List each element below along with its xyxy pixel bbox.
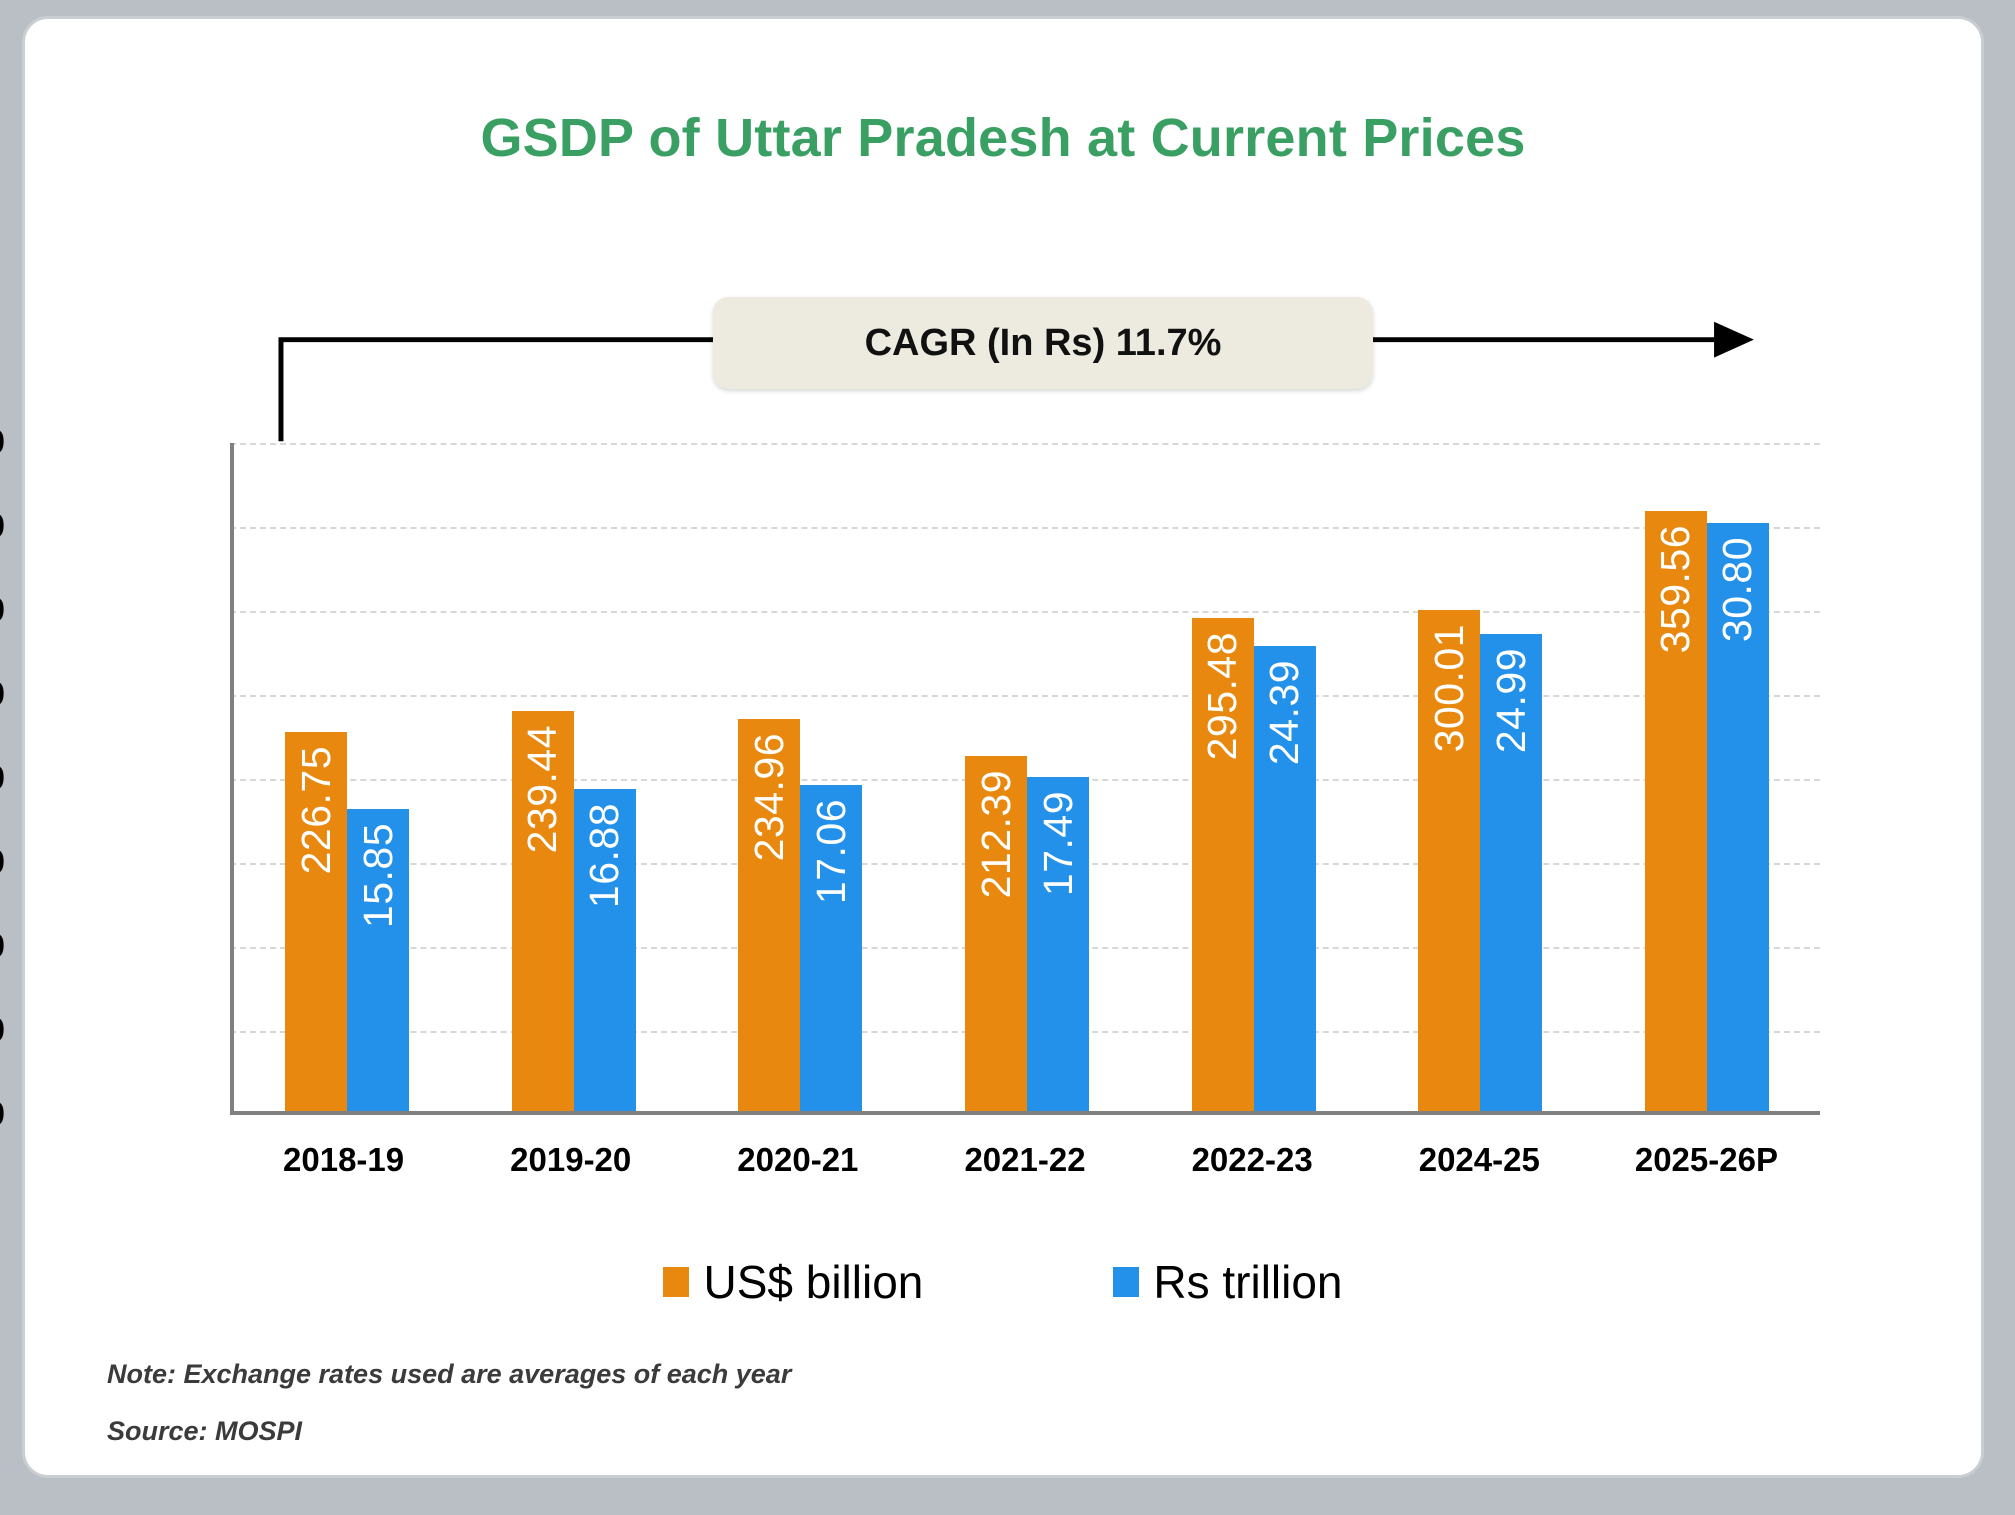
left-axis-tick: 50.0 [0,1011,5,1049]
legend-swatch-icon [663,1267,689,1297]
x-axis-tick-cell: 2024-25 [1366,1119,1593,1189]
bar-value-label: 30.80 [1717,537,1758,642]
bar-rs-trillion[interactable]: 17.49 [1027,777,1089,1111]
bar-usd-billion[interactable]: 239.44 [512,711,574,1111]
bar-pair: 295.4824.39 [1140,443,1367,1111]
bar-value-label: 17.06 [811,799,852,904]
legend-label-rs: Rs trillion [1153,1255,1342,1309]
x-axis-line [230,1111,1820,1115]
bar-usd-billion[interactable]: 300.01 [1418,610,1480,1111]
left-axis-tick: 200.0 [0,759,5,797]
left-axis-tick: 350.0 [0,507,5,545]
bar-pair: 212.3917.49 [914,443,1141,1111]
x-axis-tick-label: 2020-21 [684,1141,911,1179]
bar-value-label: 234.96 [749,733,790,861]
x-axis-tick-cell: 2022-23 [1139,1119,1366,1189]
left-axis-tick: 300.0 [0,591,5,629]
legend-item-usd[interactable]: US$ billion [663,1255,923,1309]
bar-value-label: 300.01 [1429,624,1470,752]
bar-rs-trillion[interactable]: 30.80 [1707,523,1769,1111]
bar-rs-trillion[interactable]: 15.85 [347,809,409,1112]
bar-usd-billion[interactable]: 226.75 [285,732,347,1111]
bar-value-label: 359.56 [1655,525,1696,653]
bar-value-label: 24.99 [1491,648,1532,753]
x-axis-tick-label: 2019-20 [457,1141,684,1179]
bar-rs-trillion[interactable]: 17.06 [800,785,862,1111]
chart-footer: Note: Exchange rates used are averages o… [107,1359,791,1473]
left-axis-tick: 150.0 [0,843,5,881]
chart-page: GSDP of Uttar Pradesh at Current Prices … [0,0,2015,1515]
bar-value-label: 295.48 [1202,632,1243,760]
x-axis-tick-label: 2018-19 [230,1141,457,1179]
chart-card: GSDP of Uttar Pradesh at Current Prices … [22,16,1984,1478]
legend-label-usd: US$ billion [703,1255,923,1309]
x-axis-tick-label: 2025-26P [1593,1141,1820,1179]
bar-groups: 226.7515.85239.4416.88234.9617.06212.391… [234,443,1820,1111]
x-axis-tick-cell: 2019-20 [457,1119,684,1189]
left-axis-tick: 400.0 [0,423,5,461]
x-axis-tick-label: 2022-23 [1139,1141,1366,1179]
bar-group: 226.7515.85 [234,443,461,1111]
legend-swatch-icon [1113,1267,1139,1297]
bar-usd-billion[interactable]: 359.56 [1645,511,1707,1111]
x-axis-tick-cell: 2020-21 [684,1119,911,1189]
plot-area: 400.0 350.0 300.0 250.0 200.0 150.0 100.… [230,443,1820,1115]
x-axis-labels: 2018-192019-202020-212021-222022-232024-… [230,1119,1820,1189]
left-axis-tick: 100.0 [0,927,5,965]
bar-value-label: 17.49 [1038,791,1079,896]
bar-value-label: 24.39 [1264,660,1305,765]
left-axis-tick: 250.0 [0,675,5,713]
bar-rs-trillion[interactable]: 24.99 [1480,634,1542,1111]
bar-group: 300.0124.99 [1367,443,1594,1111]
bar-value-label: 212.39 [976,770,1017,898]
chart-title: GSDP of Uttar Pradesh at Current Prices [25,107,1981,169]
chart-legend: US$ billion Rs trillion [25,1255,1981,1309]
x-axis-tick-cell: 2021-22 [911,1119,1138,1189]
bar-group: 234.9617.06 [687,443,914,1111]
x-axis-tick-label: 2021-22 [911,1141,1138,1179]
footer-note: Note: Exchange rates used are averages o… [107,1359,791,1390]
bar-pair: 226.7515.85 [234,443,461,1111]
bar-value-label: 15.85 [358,823,399,928]
bar-pair: 359.5630.80 [1593,443,1820,1111]
bar-usd-billion[interactable]: 212.39 [965,756,1027,1111]
bar-rs-trillion[interactable]: 16.88 [574,789,636,1111]
bar-usd-billion[interactable]: 234.96 [738,719,800,1111]
bar-group: 212.3917.49 [914,443,1141,1111]
cagr-label: CAGR (In Rs) 11.7% [865,322,1222,365]
x-axis-tick-cell: 2018-19 [230,1119,457,1189]
bar-rs-trillion[interactable]: 24.39 [1254,646,1316,1112]
cagr-badge: CAGR (In Rs) 11.7% [713,297,1373,389]
bar-group: 295.4824.39 [1140,443,1367,1111]
bar-group: 359.5630.80 [1593,443,1820,1111]
bar-value-label: 226.75 [296,746,337,874]
bar-pair: 239.4416.88 [461,443,688,1111]
left-axis-tick: 0.0 [0,1095,5,1133]
bar-value-label: 239.44 [522,725,563,853]
bar-usd-billion[interactable]: 295.48 [1192,618,1254,1111]
bar-pair: 300.0124.99 [1367,443,1594,1111]
legend-item-rs[interactable]: Rs trillion [1113,1255,1342,1309]
bar-value-label: 16.88 [584,803,625,908]
x-axis-tick-label: 2024-25 [1366,1141,1593,1179]
bar-group: 239.4416.88 [461,443,688,1111]
bar-pair: 234.9617.06 [687,443,914,1111]
x-axis-tick-cell: 2025-26P [1593,1119,1820,1189]
footer-source: Source: MOSPI [107,1416,791,1447]
